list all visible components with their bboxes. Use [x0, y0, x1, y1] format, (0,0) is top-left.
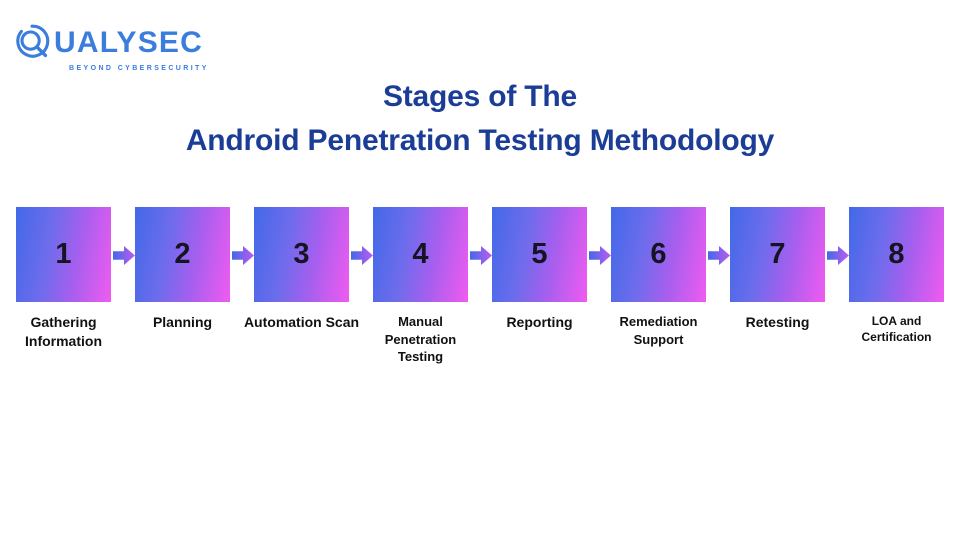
stage-item: 6Remediation Support — [611, 207, 706, 348]
stage-box: 2 — [135, 207, 230, 302]
stage-number: 6 — [650, 240, 666, 269]
stage-number: 3 — [293, 240, 309, 269]
stage-number: 2 — [174, 240, 190, 269]
magnifier-q-icon — [12, 22, 52, 62]
stage-label: Gathering Information — [5, 313, 123, 351]
stage-item: 2Planning — [135, 207, 230, 332]
stage-label: Retesting — [719, 313, 837, 332]
arrow-right-icon — [232, 246, 254, 265]
title-line-1: Stages of The — [0, 82, 960, 112]
stage-label: Planning — [124, 313, 242, 332]
page-title: Stages of The Android Penetration Testin… — [0, 82, 960, 156]
stage-box: 1 — [16, 207, 111, 302]
logo-row: UALYSEC — [12, 22, 203, 62]
stage-item: 7Retesting — [730, 207, 825, 332]
stage-label: Reporting — [481, 313, 599, 332]
arrow-right-icon — [708, 246, 730, 265]
stage-number: 1 — [55, 240, 71, 269]
brand-logo: UALYSEC BEYOND CYBERSECURITY — [12, 22, 209, 72]
stage-box: 4 — [373, 207, 468, 302]
stage-number: 5 — [531, 240, 547, 269]
stage-box: 3 — [254, 207, 349, 302]
stage-label: LOA and Certification — [838, 313, 956, 345]
stage-label: Automation Scan — [243, 313, 361, 332]
stage-item: 8LOA and Certification — [849, 207, 944, 345]
stage-number: 4 — [412, 240, 428, 269]
stage-box: 8 — [849, 207, 944, 302]
logo-tagline: BEYOND CYBERSECURITY — [69, 65, 209, 72]
title-line-2: Android Penetration Testing Methodology — [0, 126, 960, 156]
stage-label: Manual Penetration Testing — [362, 313, 480, 366]
arrow-right-icon — [470, 246, 492, 265]
stage-box: 6 — [611, 207, 706, 302]
stage-item: 3Automation Scan — [254, 207, 349, 332]
stage-box: 7 — [730, 207, 825, 302]
stage-flow: 1Gathering Information2Planning3Automati… — [16, 207, 944, 366]
arrow-right-icon — [351, 246, 373, 265]
stage-item: 5Reporting — [492, 207, 587, 332]
stage-box: 5 — [492, 207, 587, 302]
arrow-right-icon — [827, 246, 849, 265]
stage-item: 1Gathering Information — [16, 207, 111, 351]
logo-wordmark: UALYSEC — [54, 28, 203, 58]
stage-label: Remediation Support — [600, 313, 718, 348]
stage-number: 8 — [888, 240, 904, 269]
arrow-right-icon — [589, 246, 611, 265]
stage-number: 7 — [769, 240, 785, 269]
arrow-right-icon — [113, 246, 135, 265]
stage-item: 4Manual Penetration Testing — [373, 207, 468, 366]
